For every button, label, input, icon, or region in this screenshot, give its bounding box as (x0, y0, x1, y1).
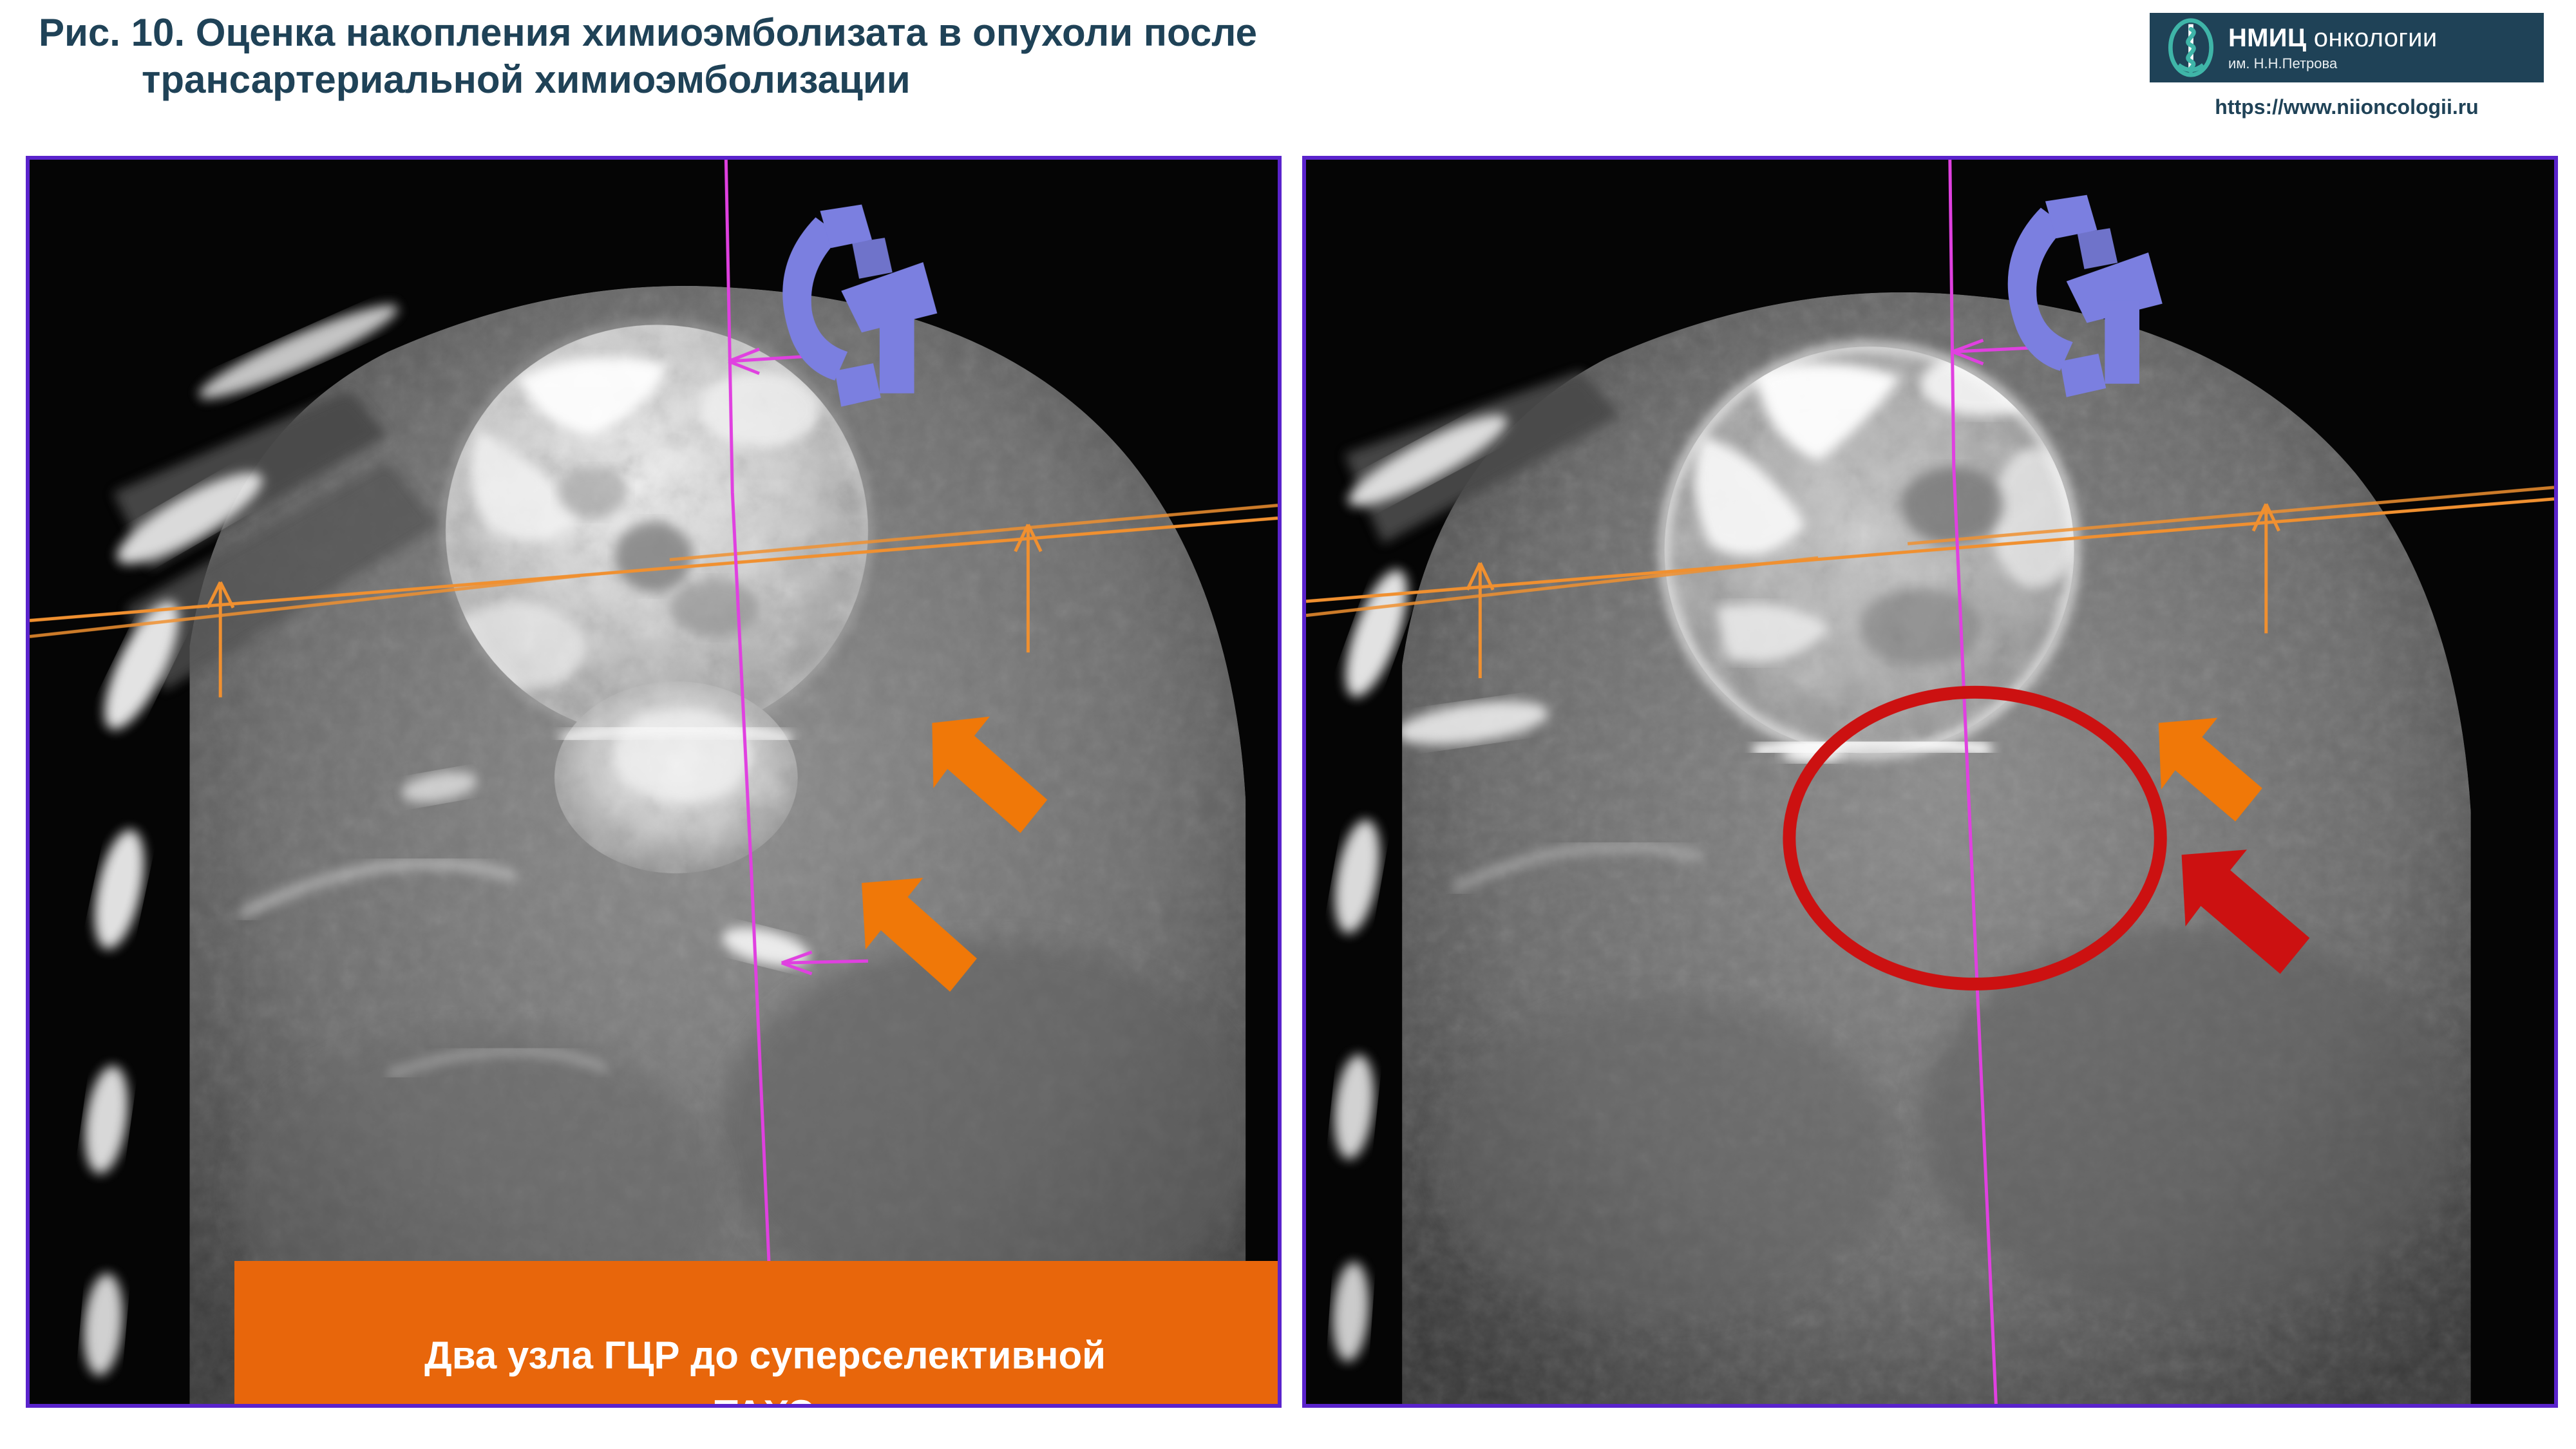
post-tace-image-panel[interactable]: Равномерное накопление микросфер в крупн… (1302, 156, 2558, 1408)
pre-tace-image-panel[interactable]: Два узла ГЦР до суперселективной ТАХЭ (П… (26, 156, 1282, 1408)
slide-header: Рис. 10. Оценка накопления химиоэмболиза… (0, 0, 2576, 148)
page-title: Рис. 10. Оценка накопления химиоэмболиза… (39, 9, 1649, 103)
logo-title: НМИЦ онкологии (2228, 25, 2437, 51)
logo-subtitle: им. Н.Н.Петрова (2228, 57, 2437, 71)
title-line-1: Рис. 10. Оценка накопления химиоэмболиза… (39, 11, 1257, 54)
logo-text-block: НМИЦ онкологии им. Н.Н.Петрова (2228, 25, 2437, 71)
caduceus-snake-bowl-icon (2160, 17, 2222, 79)
caption-left-line-1: Два узла ГЦР до суперселективной (247, 1326, 1282, 1385)
website-url: https://www.niioncologii.ru (2150, 95, 2544, 119)
pre-tace-ct-image (30, 160, 1278, 1404)
left-panel-caption: Два узла ГЦР до суперселективной ТАХЭ (П… (234, 1261, 1282, 1408)
post-tace-ct-image (1306, 160, 2554, 1404)
caption-left-line-2: ТАХЭ (247, 1385, 1282, 1408)
title-line-2: трансартериальной химиоэмболизации (39, 56, 1649, 103)
logo-title-bold: НМИЦ (2228, 24, 2306, 52)
institution-logo: НМИЦ онкологии им. Н.Н.Петрова (2150, 13, 2544, 82)
logo-title-thin: онкологии (2306, 24, 2437, 52)
